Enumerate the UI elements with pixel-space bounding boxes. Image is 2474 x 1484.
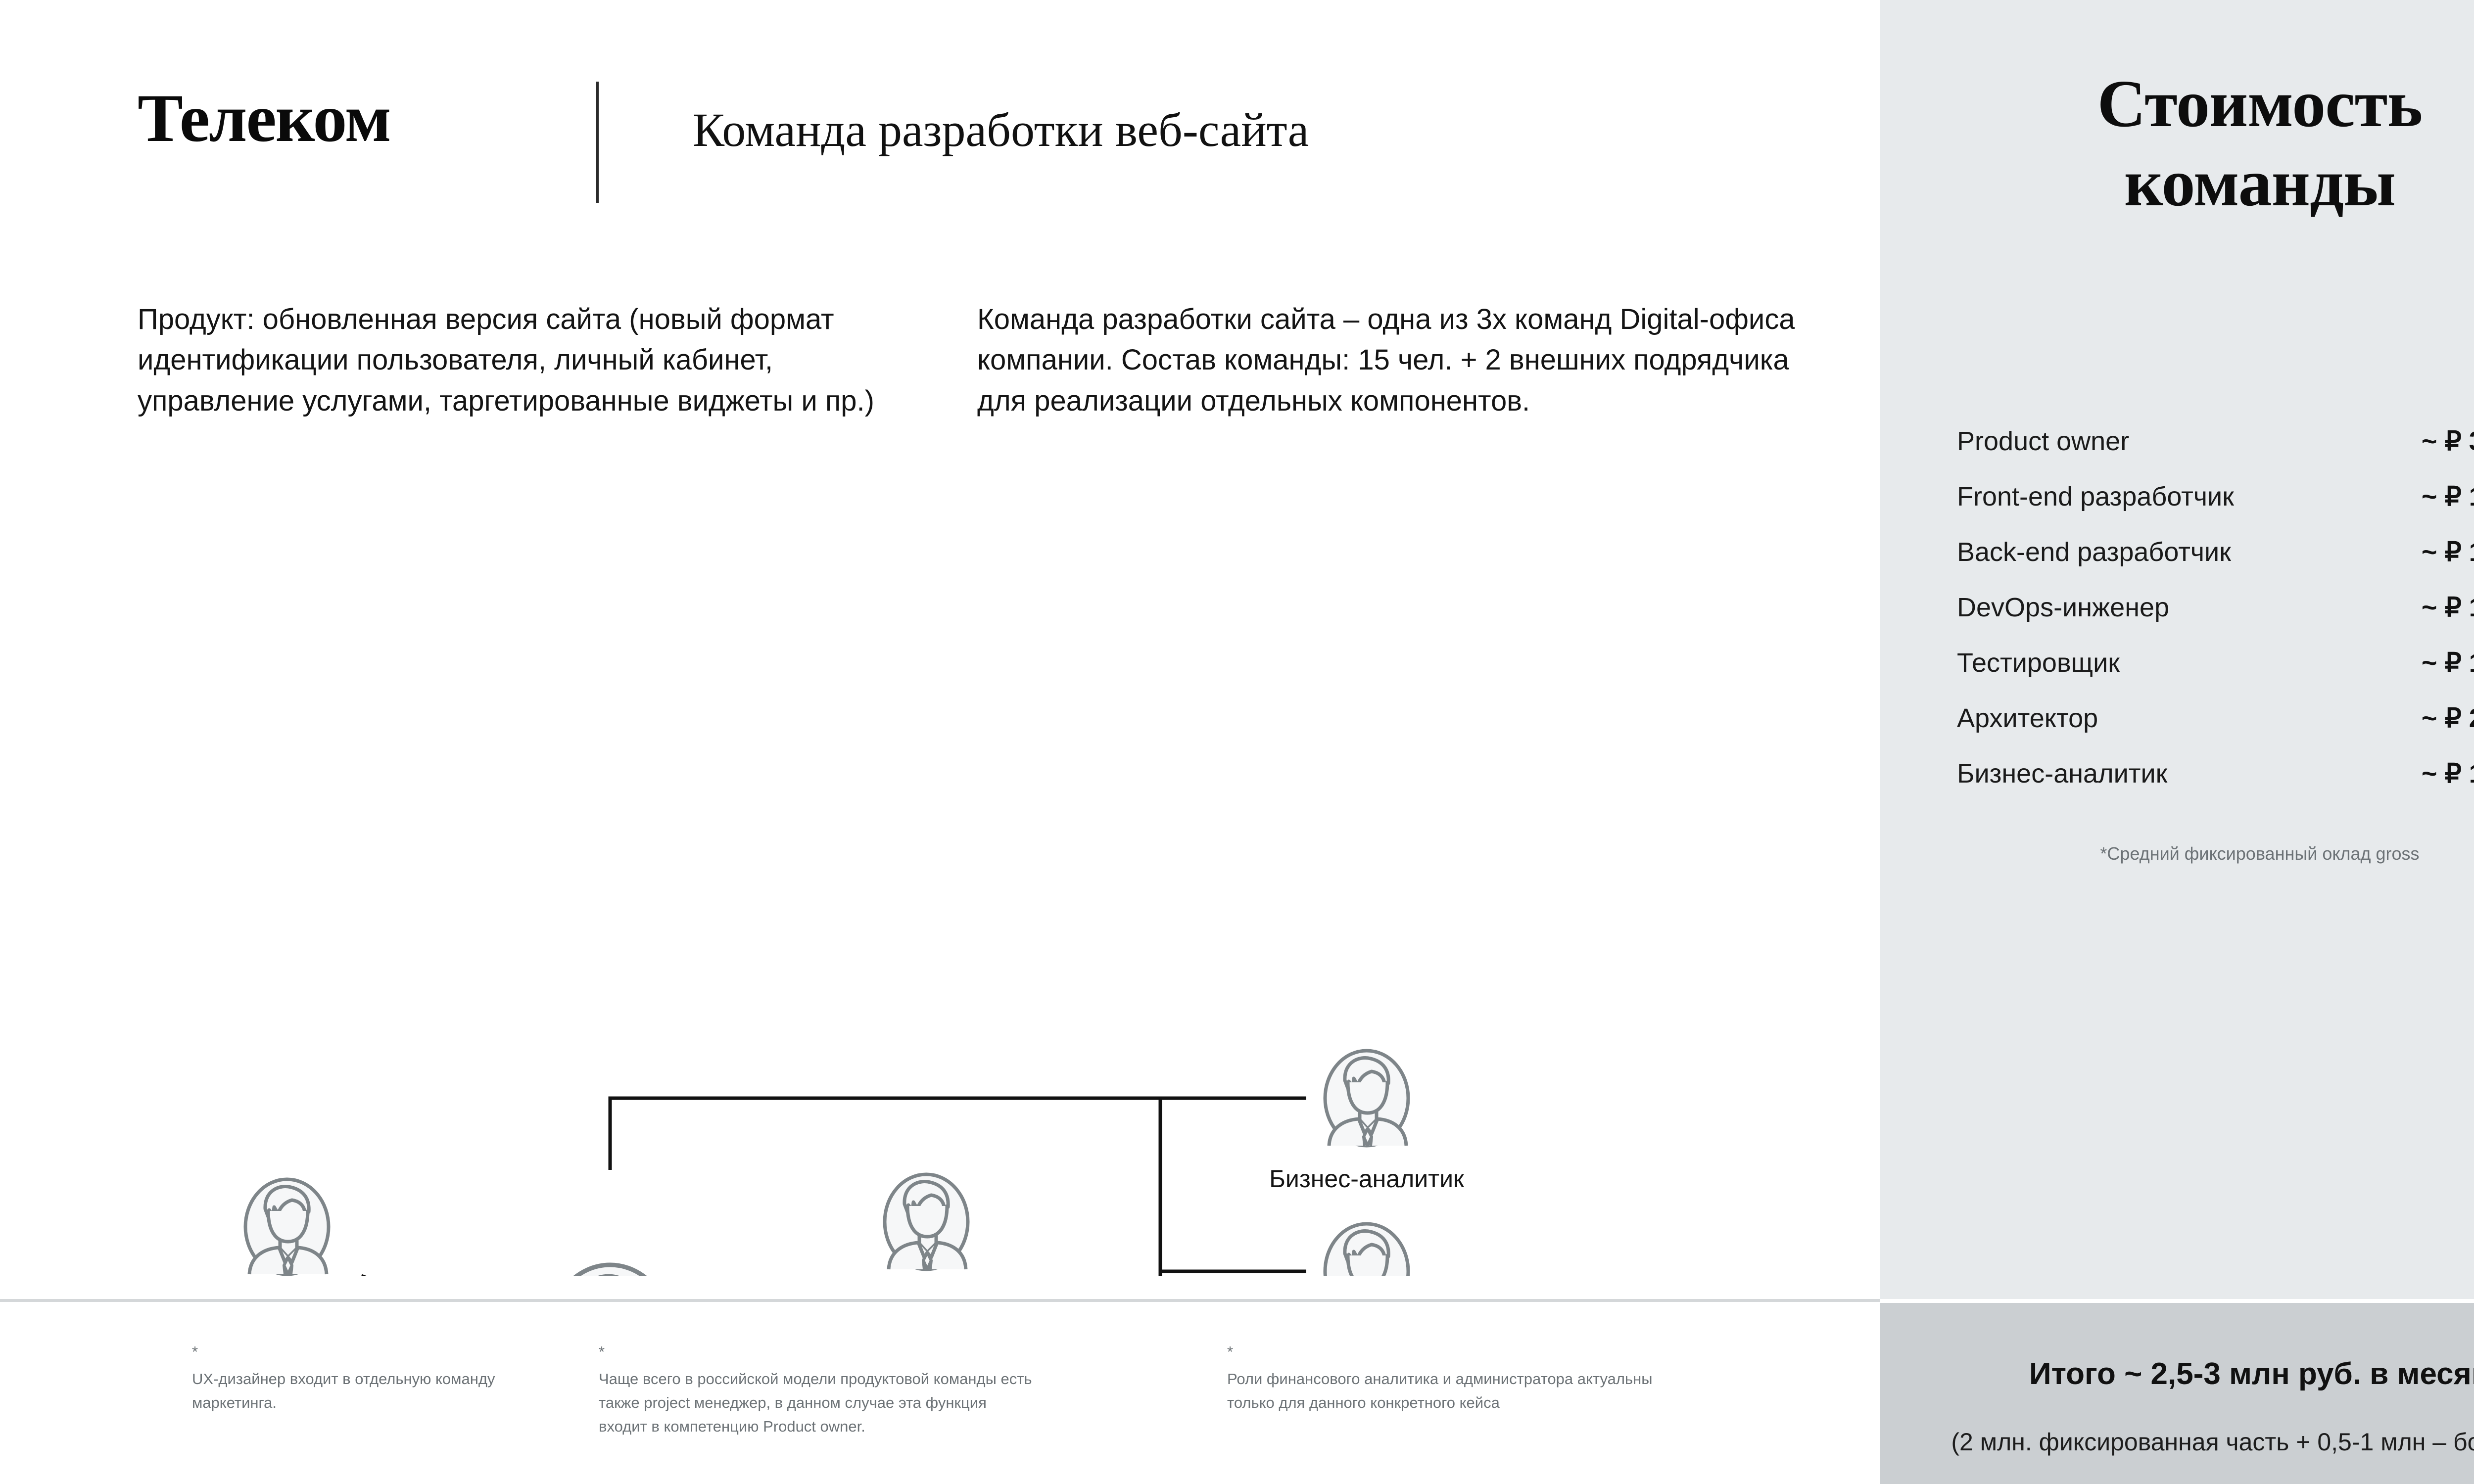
diagram-node-product-owner: Product owner <box>530 1265 690 1276</box>
footnote-3-star: * <box>1227 1344 1682 1360</box>
table-row: Бизнес-аналитик ~ ₽ 150 000 <box>1957 758 2474 813</box>
cost-role: Front-end разработчик <box>1957 481 2234 512</box>
avatar-back-end-icon <box>245 1179 329 1274</box>
headline: Команда разработки веб-сайта <box>693 106 1309 154</box>
diagram-node-business-analyst: Бизнес-аналитик <box>1269 1051 1465 1193</box>
cost-role: Архитектор <box>1957 703 2098 734</box>
cost-table: Product owner ~ ₽ 350 000 Front-end разр… <box>1957 425 2474 813</box>
cost-role: Бизнес-аналитик <box>1957 758 2167 789</box>
cost-panel: Стоимость команды Product owner ~ ₽ 350 … <box>1880 0 2474 1299</box>
cost-panel-note: *Средний фиксированный оклад gross <box>1880 843 2474 864</box>
footnote-2: * Чаще всего в российской модели продукт… <box>599 1344 1034 1438</box>
infographic-page: Телеком Команда разработки веб-сайта Про… <box>0 0 2474 1484</box>
table-row: Back-end разработчик ~ ₽ 180 000 <box>1957 536 2474 592</box>
cost-role: Product owner <box>1957 426 2129 457</box>
cost-panel-title: Стоимость команды <box>1880 64 2474 223</box>
cost-value: ~ ₽ 350 000 <box>2358 425 2474 457</box>
cost-value: ~ ₽ 150 000 <box>2358 758 2474 789</box>
footer-divider <box>0 1299 1880 1302</box>
avatar-product-owner-icon <box>548 1265 672 1276</box>
cost-role: Back-end разработчик <box>1957 537 2231 567</box>
total-breakdown: (2 млн. фиксированная часть + 0,5-1 млн … <box>1880 1428 2474 1456</box>
cost-value: ~ ₽ 180 000 <box>2358 592 2474 623</box>
cost-role: Тестировщик <box>1957 648 2120 678</box>
header-divider <box>596 82 599 203</box>
table-row: Архитектор ~ ₽ 240 000 <box>1957 702 2474 758</box>
footnote-3: * Роли финансового аналитика и администр… <box>1227 1344 1682 1415</box>
diagram-node-back-end: Back-end разработчик (2x) <box>191 1179 383 1276</box>
footnote-2-star: * <box>599 1344 1034 1360</box>
table-row: Тестировщик ~ ₽ 140 000 <box>1957 647 2474 702</box>
cost-value: ~ ₽ 140 000 <box>2358 647 2474 678</box>
bracket-top-path <box>610 1098 1160 1170</box>
footnote-2-text: Чаще всего в российской модели продуктов… <box>599 1370 1032 1435</box>
footnote-3-text: Роли финансового аналитика и администрат… <box>1227 1370 1652 1411</box>
node-label-business-analyst: Бизнес-аналитик <box>1269 1165 1465 1193</box>
cost-value: ~ ₽ 240 000 <box>2358 702 2474 734</box>
intro-paragraph-right: Команда разработки сайта – одна из 3х ко… <box>977 299 1818 421</box>
diagram-connectors <box>346 1098 1306 1276</box>
cost-role: DevOps-инженер <box>1957 592 2169 623</box>
footnote-1: * UX-дизайнер входит в отдельную команду… <box>192 1344 538 1415</box>
cost-panel-title-line1: Стоимость <box>1880 64 2474 143</box>
total-block: Итого ~ 2,5-3 млн руб. в месяц (2 млн. ф… <box>1880 1303 2474 1484</box>
table-row: DevOps-инженер ~ ₽ 180 000 <box>1957 592 2474 647</box>
total-amount: Итого ~ 2,5-3 млн руб. в месяц <box>1880 1356 2474 1391</box>
cost-value: ~ ₽ 180 000 <box>2358 536 2474 567</box>
footnotes: * UX-дизайнер входит в отдельную команду… <box>0 1331 1880 1484</box>
diagram-node-financial-analyst: Финансовый аналитик <box>1294 1224 1439 1276</box>
avatar-business-analyst-icon <box>1325 1051 1408 1146</box>
avatar-front-end-icon <box>885 1174 968 1269</box>
cost-panel-title-line2: команды <box>1880 143 2474 223</box>
table-row: Front-end разработчик ~ ₽ 170 000 <box>1957 481 2474 536</box>
avatar-financial-analyst-icon <box>1325 1224 1408 1276</box>
table-row: Product owner ~ ₽ 350 000 <box>1957 425 2474 481</box>
team-structure-diagram: Product owner Back-end разработчик (2x) … <box>0 534 1880 1276</box>
intro-paragraph-left: Продукт: обновленная версия сайта (новый… <box>138 299 934 421</box>
diagram-node-front-end: Front-end разработчик (2x) <box>830 1174 1022 1276</box>
cost-value: ~ ₽ 170 000 <box>2358 481 2474 512</box>
footnote-1-text: UX-дизайнер входит в отдельную команду м… <box>192 1370 495 1411</box>
footnote-1-star: * <box>192 1344 538 1360</box>
page-title: Телеком <box>138 84 390 152</box>
